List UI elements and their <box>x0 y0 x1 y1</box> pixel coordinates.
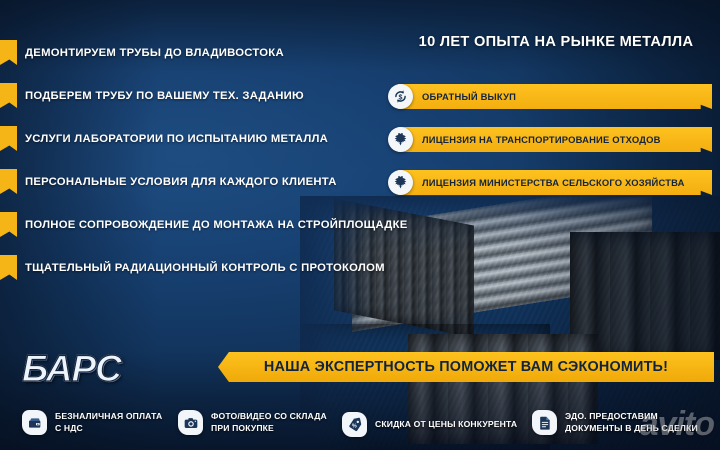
list-item: ДЕМОНТИРУЕМ ТРУБЫ ДО ВЛАДИВОСТОКА <box>0 34 420 72</box>
list-item: ПОЛНОЕ СОПРОВОЖДЕНИЕ ДО МОНТАЖА НА СТРОЙ… <box>0 206 420 244</box>
metal-pipes-advertisement-banner: ДЕМОНТИРУЕМ ТРУБЫ ДО ВЛАДИВОСТОКА ПОДБЕР… <box>0 0 720 450</box>
svg-text:%: % <box>351 423 356 429</box>
wallet-card-icon <box>22 410 47 435</box>
left-feature-label: ДЕМОНТИРУЕМ ТРУБЫ ДО ВЛАДИВОСТОКА <box>25 47 284 59</box>
bottom-feature-label: ЭДО. ПРЕДОСТАВИМ ДОКУМЕНТЫ В ДЕНЬ СДЕЛКИ <box>565 411 698 434</box>
left-feature-label: УСЛУГИ ЛАБОРАТОРИИ ПО ИСПЫТАНИЮ МЕТАЛЛА <box>25 133 328 145</box>
badge-label: ЛИЦЕНЗИЯ МИНИСТЕРСТВА СЕЛЬСКОГО ХОЗЯЙСТВ… <box>422 177 685 188</box>
headline-text: 10 ЛЕТ ОПЫТА НА РЫНКЕ МЕТАЛЛА <box>404 34 708 50</box>
ribbon-marker-icon <box>0 212 17 237</box>
badge-item: $ ОБРАТНЫЙ ВЫКУП <box>388 84 714 109</box>
document-icon <box>532 410 557 435</box>
badge-item: ЛИЦЕНЗИЯ НА ТРАНСПОРТИРОВАНИЕ ОТХОДОВ <box>388 127 714 152</box>
logo-wordmark: БАРС <box>22 348 121 390</box>
bottom-feature-line2: ПРИ ПОКУПКЕ <box>211 423 327 435</box>
bottom-feature-line2: С НДС <box>55 423 162 435</box>
bottom-feature-label: СКИДКА ОТ ЦЕНЫ КОНКУРЕНТА <box>375 419 517 431</box>
left-feature-label: ПОДБЕРЕМ ТРУБУ ПО ВАШЕМУ ТЕХ. ЗАДАНИЮ <box>25 90 304 102</box>
buyback-cycle-icon: $ <box>388 84 413 109</box>
bottom-feature-item: % СКИДКА ОТ ЦЕНЫ КОНКУРЕНТА <box>342 412 517 437</box>
bottom-feature-line1: ФОТО/ВИДЕО СО СКЛАДА <box>211 411 327 423</box>
list-item: ТЩАТЕЛЬНЫЙ РАДИАЦИОННЫЙ КОНТРОЛЬ С ПРОТО… <box>0 249 420 287</box>
double-headed-eagle-icon <box>388 170 413 195</box>
ribbon-marker-icon <box>0 169 17 194</box>
price-tag-icon: % <box>342 412 367 437</box>
svg-text:$: $ <box>399 93 403 101</box>
ribbon-marker-icon <box>0 83 17 108</box>
bottom-feature-item: БЕЗНАЛИЧНАЯ ОПЛАТА С НДС <box>22 410 162 435</box>
badge-label: ЛИЦЕНЗИЯ НА ТРАНСПОРТИРОВАНИЕ ОТХОДОВ <box>422 134 661 145</box>
cta-text: НАША ЭКСПЕРТНОСТЬ ПОМОЖЕТ ВАМ СЭКОНОМИТЬ… <box>264 359 668 375</box>
certification-badge-list: $ ОБРАТНЫЙ ВЫКУП ЛИЦЕНЗИЯ НА ТРАНСПОРТИР… <box>388 84 714 213</box>
list-item: ПЕРСОНАЛЬНЫЕ УСЛОВИЯ ДЛЯ КАЖДОГО КЛИЕНТА <box>0 163 420 201</box>
left-feature-list: ДЕМОНТИРУЕМ ТРУБЫ ДО ВЛАДИВОСТОКА ПОДБЕР… <box>0 34 420 292</box>
bottom-feature-label: БЕЗНАЛИЧНАЯ ОПЛАТА С НДС <box>55 411 162 434</box>
bottom-feature-strip: БЕЗНАЛИЧНАЯ ОПЛАТА С НДС ФОТО/ВИДЕО СО С… <box>0 398 720 450</box>
list-item: УСЛУГИ ЛАБОРАТОРИИ ПО ИСПЫТАНИЮ МЕТАЛЛА <box>0 120 420 158</box>
ribbon-marker-icon <box>0 255 17 280</box>
bottom-feature-line1: БЕЗНАЛИЧНАЯ ОПЛАТА <box>55 411 162 423</box>
bottom-feature-line2: ДОКУМЕНТЫ В ДЕНЬ СДЕЛКИ <box>565 423 698 435</box>
left-feature-label: ПОЛНОЕ СОПРОВОЖДЕНИЕ ДО МОНТАЖА НА СТРОЙ… <box>25 219 408 231</box>
company-logo: БАРС <box>22 348 194 390</box>
ribbon-marker-icon <box>0 126 17 151</box>
bottom-feature-item: ФОТО/ВИДЕО СО СКЛАДА ПРИ ПОКУПКЕ <box>178 410 327 435</box>
double-headed-eagle-icon <box>388 127 413 152</box>
bottom-feature-item: ЭДО. ПРЕДОСТАВИМ ДОКУМЕНТЫ В ДЕНЬ СДЕЛКИ <box>532 410 698 435</box>
bottom-feature-line1: ЭДО. ПРЕДОСТАВИМ <box>565 411 698 423</box>
list-item: ПОДБЕРЕМ ТРУБУ ПО ВАШЕМУ ТЕХ. ЗАДАНИЮ <box>0 77 420 115</box>
cta-banner: НАША ЭКСПЕРТНОСТЬ ПОМОЖЕТ ВАМ СЭКОНОМИТЬ… <box>218 352 714 382</box>
left-feature-label: ТЩАТЕЛЬНЫЙ РАДИАЦИОННЫЙ КОНТРОЛЬ С ПРОТО… <box>25 262 385 274</box>
ribbon-marker-icon <box>0 40 17 65</box>
left-feature-label: ПЕРСОНАЛЬНЫЕ УСЛОВИЯ ДЛЯ КАЖДОГО КЛИЕНТА <box>25 176 337 188</box>
badge-item: ЛИЦЕНЗИЯ МИНИСТЕРСТВА СЕЛЬСКОГО ХОЗЯЙСТВ… <box>388 170 714 195</box>
bottom-feature-line1: СКИДКА ОТ ЦЕНЫ КОНКУРЕНТА <box>375 419 517 431</box>
camera-icon <box>178 410 203 435</box>
bottom-feature-label: ФОТО/ВИДЕО СО СКЛАДА ПРИ ПОКУПКЕ <box>211 411 327 434</box>
badge-label: ОБРАТНЫЙ ВЫКУП <box>422 91 516 102</box>
